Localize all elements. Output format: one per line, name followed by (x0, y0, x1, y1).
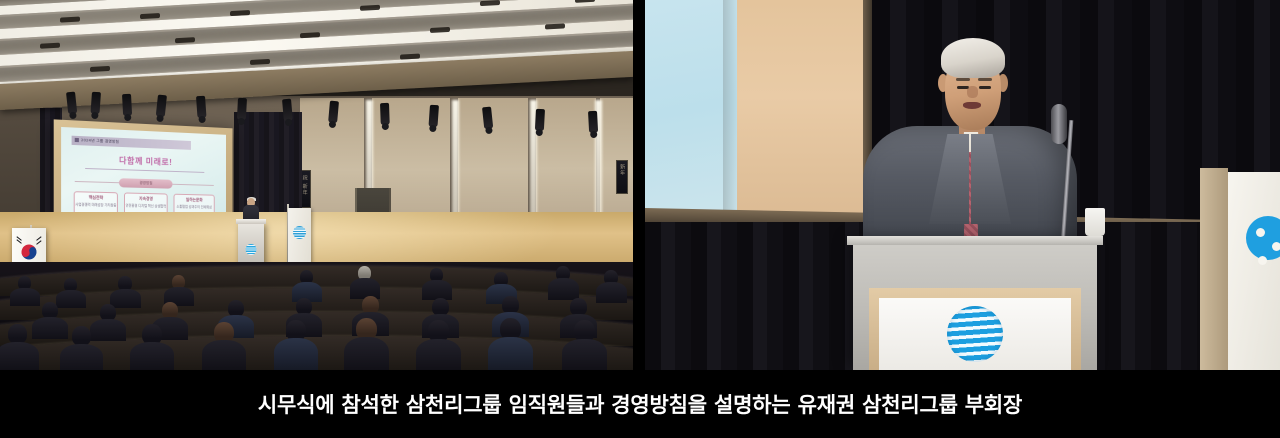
eyebrow (956, 78, 970, 81)
photo-composite: 祝 新年 新年 (0, 0, 1280, 438)
auditorium-scene: 祝 新年 新年 (0, 0, 633, 370)
slide-box-title: 지속경영 (139, 196, 153, 201)
audience-shoulder (274, 338, 318, 370)
slide-box-lines: 안전환경 디지털 혁신 상생협력 (126, 203, 166, 209)
eye (979, 86, 991, 89)
audience-shoulder (596, 282, 627, 303)
speaker-nose (967, 86, 978, 98)
podium-top (236, 219, 266, 224)
photo-divider (633, 0, 645, 370)
bullet-icon (75, 138, 79, 142)
stage-spotlight (90, 92, 101, 115)
calligraphy-text: 新年 (619, 164, 625, 176)
audience-shoulder (344, 337, 389, 370)
flag-detail (1258, 256, 1267, 265)
audience-shoulder (416, 339, 461, 370)
suit-lapel (929, 134, 969, 224)
left-photo-auditorium: 祝 新年 新年 (0, 0, 633, 370)
company-logo-icon (947, 306, 1003, 362)
audience-shoulder (90, 319, 126, 341)
taeguk-icon (1246, 216, 1280, 260)
slide-pill: 경영방침 (119, 178, 172, 189)
flag-detail (1272, 242, 1280, 251)
stage-spotlight (328, 101, 339, 124)
slide-box-title: 핵심전략 (89, 195, 103, 200)
stage-spotlight (196, 96, 207, 119)
audience-shoulder (488, 337, 533, 370)
audience-shoulder (0, 342, 39, 370)
slide-connector (75, 181, 119, 183)
stage-spotlight (428, 105, 439, 128)
audience-shoulder (422, 280, 452, 300)
slide-box-lines: 사업경쟁력 미래성장 가치창출 (75, 202, 116, 208)
caption-bar: 시무식에 참석한 삼천리그룹 임직원들과 경영방침을 설명하는 유재권 삼천리그… (0, 370, 1280, 438)
flag-detail (1256, 228, 1265, 237)
podium-top-edge (847, 236, 1103, 245)
stage-spotlight (282, 99, 293, 122)
audience-shoulder (130, 342, 174, 370)
slide-pill-text: 경영방침 (119, 178, 172, 188)
flag-backdrop (1200, 168, 1228, 370)
calligraphy-panel: 新年 (616, 160, 628, 194)
right-photo-speaker (645, 0, 1280, 370)
audience-area (0, 262, 633, 370)
speaker-hair (941, 38, 1005, 78)
stage-spotlight (237, 98, 247, 120)
water-glass (1085, 208, 1105, 236)
stage-spotlight (535, 109, 545, 131)
slide-box-title: 일하는문화 (186, 198, 203, 203)
slide-divider (85, 168, 204, 173)
slide-box-lines: 소통협업 성과주의 인재육성 (176, 204, 211, 209)
audience-shoulder (562, 339, 607, 370)
audience-shoulder (202, 340, 246, 370)
korean-flag (1228, 172, 1280, 370)
eyebrow (978, 78, 992, 81)
photo-caption: 시무식에 참석한 삼천리그룹 임직원들과 경영방침을 설명하는 유재권 삼천리그… (258, 389, 1022, 419)
audience-shoulder (60, 344, 103, 370)
stage-spotlight (122, 94, 132, 116)
audience-shoulder (56, 290, 86, 308)
slide-header: 2024년 그룹 경영방침 (72, 135, 192, 150)
audience-head (8, 324, 27, 344)
audience-shoulder (350, 278, 380, 299)
slide-connector (172, 184, 213, 186)
calligraphy-text: 祝 新年 (301, 175, 307, 195)
tan-wall-panel (737, 0, 865, 215)
microphone-icon (1051, 104, 1067, 144)
speaker-scene (645, 0, 1280, 370)
corporate-flag (288, 208, 311, 266)
stage-spotlight (380, 103, 390, 125)
taeguk-icon (19, 242, 39, 262)
slide-header-text: 2024년 그룹 경영방침 (81, 138, 119, 145)
company-logo-icon (246, 244, 257, 255)
audience-shoulder (548, 278, 579, 300)
audience-head (72, 326, 91, 346)
podium (853, 242, 1097, 370)
speaker-mouth (963, 102, 981, 109)
stage-spotlight (588, 111, 598, 133)
audience-shoulder (32, 317, 68, 339)
audience-shoulder (10, 288, 40, 306)
audience-shoulder (110, 289, 141, 308)
suit-lapel (971, 134, 1011, 224)
